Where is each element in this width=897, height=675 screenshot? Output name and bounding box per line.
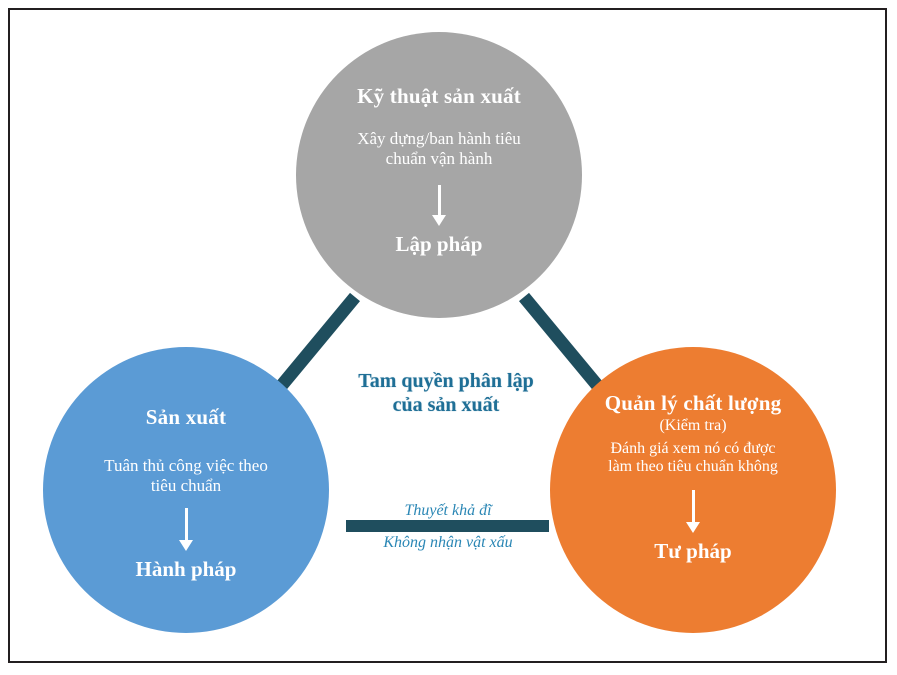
arrow-shaft xyxy=(692,490,695,522)
arrow-down-icon xyxy=(179,508,193,551)
node-production-title: Sản xuất xyxy=(146,405,226,430)
node-production-outcome: Hành pháp xyxy=(136,557,237,582)
arrow-head xyxy=(179,540,193,551)
node-quality-outcome: Tư pháp xyxy=(654,539,731,564)
center-title-line1: Tam quyền phân lập xyxy=(330,369,562,393)
node-quality-subtitle: (Kiểm tra) xyxy=(659,417,726,436)
edge-label-upper: Thuyết khả đĩ xyxy=(350,502,546,520)
arrow-head xyxy=(432,215,446,226)
arrow-shaft xyxy=(185,508,188,540)
node-quality[interactable]: Quản lý chất lượng (Kiểm tra) Đánh giá x… xyxy=(550,347,836,633)
node-engineering-description: Xây dựng/ban hành tiêu chuẩn vận hành xyxy=(357,129,521,169)
node-engineering-title: Kỹ thuật sản xuất xyxy=(357,84,521,109)
node-production[interactable]: Sản xuất Tuân thủ công việc theo tiêu ch… xyxy=(43,347,329,633)
arrow-down-icon xyxy=(686,490,700,533)
node-engineering[interactable]: Kỹ thuật sản xuất Xây dựng/ban hành tiêu… xyxy=(296,32,582,318)
arrow-shaft xyxy=(438,185,441,215)
center-title: Tam quyền phân lập của sản xuất xyxy=(330,369,562,418)
diagram-stage: Kỹ thuật sản xuất Xây dựng/ban hành tiêu… xyxy=(0,0,897,675)
arrow-head xyxy=(686,522,700,533)
node-engineering-outcome: Lập pháp xyxy=(396,232,483,257)
node-quality-description: Đánh giá xem nó có được làm theo tiêu ch… xyxy=(608,440,778,477)
arrow-down-icon xyxy=(432,185,446,226)
node-production-description: Tuân thủ công việc theo tiêu chuẩn xyxy=(104,456,268,496)
node-quality-title: Quản lý chất lượng xyxy=(605,391,782,416)
diagram-canvas: Kỹ thuật sản xuất Xây dựng/ban hành tiêu… xyxy=(0,0,897,675)
center-title-line2: của sản xuất xyxy=(330,393,562,417)
edge-label-lower: Không nhận vật xấu xyxy=(348,534,548,552)
